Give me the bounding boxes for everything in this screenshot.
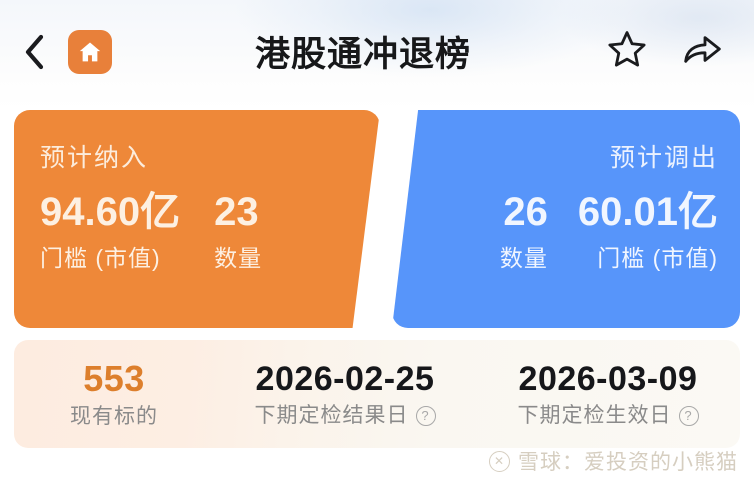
review-result-date-caption: 下期定检结果日 ? [255,405,436,426]
favorite-button[interactable] [606,28,648,75]
removal-count-caption: 数量 [500,247,548,270]
info-cell-review-effective-date: 2026-03-09 下期定检生效日 ? [476,362,740,426]
existing-targets-value: 553 [83,361,145,397]
removal-metric-count: 26 数量 [500,191,548,270]
chevron-left-icon [23,33,45,71]
info-bar: 553 现有标的 2026-02-25 下期定检结果日 ? 2026-03-09… [14,340,740,448]
removal-threshold-value: 60.01亿 [578,191,718,233]
removal-metrics: 26 数量 60.01亿 门槛 (市值) [432,191,718,270]
help-icon[interactable]: ? [416,406,436,426]
app-header: 港股通冲退榜 [0,0,754,103]
removal-count-value: 26 [503,191,548,233]
info-cell-existing-targets: 553 现有标的 [14,361,214,427]
inclusion-threshold-caption: 门槛 (市值) [40,247,161,270]
share-button[interactable] [680,29,724,74]
review-effective-date-caption: 下期定检生效日 ? [518,405,699,426]
inclusion-count-value: 23 [214,191,259,233]
home-button[interactable] [68,30,112,74]
inclusion-metrics: 94.60亿 门槛 (市值) 23 数量 [40,191,354,270]
back-button[interactable] [12,25,56,79]
existing-targets-caption: 现有标的 [70,406,158,427]
inclusion-count-caption: 数量 [214,247,262,270]
removal-threshold-caption: 门槛 (市值) [597,247,718,270]
existing-targets-caption-text: 现有标的 [70,406,158,427]
header-actions [606,28,724,75]
review-effective-date-value: 2026-03-09 [519,362,698,396]
watermark-text: 雪球：爱投资的小熊猫 [518,446,738,476]
info-cell-review-result-date: 2026-02-25 下期定检结果日 ? [214,362,476,426]
share-arrow-icon [680,29,724,69]
inclusion-metric-count: 23 数量 [214,191,262,270]
review-effective-date-caption-text: 下期定检生效日 [518,405,672,426]
inclusion-metric-threshold: 94.60亿 门槛 (市值) [40,191,180,270]
inclusion-threshold-value: 94.60亿 [40,191,180,233]
card-expected-inclusion[interactable]: 预计纳入 94.60亿 门槛 (市值) 23 数量 [14,110,380,328]
home-icon [77,39,103,65]
card-expected-removal[interactable]: 预计调出 26 数量 60.01亿 门槛 (市值) [392,110,740,328]
review-result-date-caption-text: 下期定检结果日 [255,405,409,426]
help-icon[interactable]: ? [679,406,699,426]
xueqiu-logo-icon: ✕ [489,451,510,472]
removal-metric-threshold: 60.01亿 门槛 (市值) [578,191,718,270]
review-result-date-value: 2026-02-25 [256,362,435,396]
removal-label: 预计调出 [432,146,718,171]
inclusion-label: 预计纳入 [40,146,354,171]
summary-cards: 预计纳入 94.60亿 门槛 (市值) 23 数量 预计调出 26 数量 60.… [0,110,754,328]
page-title: 港股通冲退榜 [120,26,606,77]
watermark: ✕ 雪球：爱投资的小熊猫 [489,446,738,476]
star-outline-icon [606,28,648,70]
